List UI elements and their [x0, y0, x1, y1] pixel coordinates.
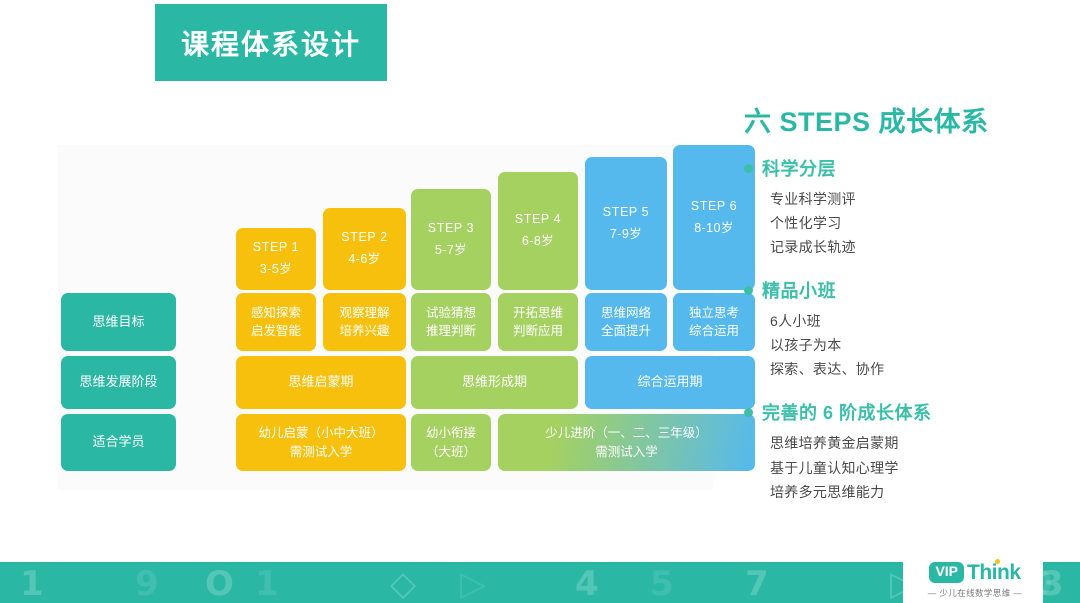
footer-decoration: 7 — [745, 564, 769, 603]
step-age: 8-10岁 — [694, 218, 734, 240]
goal-cell-6: 独立思考综合运用 — [673, 293, 755, 351]
step-label: STEP 4 — [515, 209, 561, 231]
step-bar-2: STEP 24-6岁 — [323, 208, 406, 290]
goal-cell-4: 开拓思维判断应用 — [498, 293, 578, 351]
brand-logo: VIP Think — 少儿在线数学思维 — — [915, 560, 1035, 599]
step-bar-5: STEP 57-9岁 — [585, 157, 667, 290]
cell-text: 感知探索 — [251, 304, 301, 322]
footer-decoration: ▷ — [460, 564, 486, 603]
step-bar-4: STEP 46-8岁 — [498, 172, 578, 290]
bullet-dot-icon — [744, 164, 753, 173]
logo-wordmark-text: Think — [967, 561, 1021, 584]
goal-cell-2: 观察理解培养兴趣 — [323, 293, 406, 351]
section-heading-row: 完善的 6 阶成长体系 — [744, 399, 1070, 425]
section-heading-row: 精品小班 — [744, 277, 1070, 303]
row-header-students: 适合学员 — [61, 414, 176, 471]
cell-text: 全面提升 — [601, 322, 651, 340]
footer-decoration: ◇ — [390, 564, 416, 603]
cell-text: 思维形成期 — [462, 373, 527, 392]
cell-text: 推理判断 — [426, 322, 476, 340]
row-header-stages: 思维发展阶段 — [61, 356, 176, 409]
student-cell-3: 少儿进阶（一、二、三年级）需测试入学 — [498, 414, 755, 471]
cell-text: 观察理解 — [339, 304, 389, 322]
footer-decoration: 9 — [135, 564, 159, 603]
logo-row: VIP Think — [915, 560, 1035, 585]
section-title: 精品小班 — [762, 277, 836, 303]
student-cell-2: 幼小衔接（大班） — [411, 414, 491, 471]
slide-root: 课程体系设计 STEP 13-5岁STEP 24-6岁STEP 35-7岁STE… — [0, 0, 1080, 603]
stage-cell-3: 综合运用期 — [585, 356, 755, 409]
bullet-dot-icon — [744, 286, 753, 295]
diagram-row-stages: 思维发展阶段思维启蒙期思维形成期综合运用期 — [58, 356, 713, 409]
cell-text: 思维网络 — [601, 304, 651, 322]
stage-cell-2: 思维形成期 — [411, 356, 578, 409]
cell-text: 综合运用 — [689, 322, 739, 340]
logo-dot-icon — [995, 559, 1000, 564]
list-item: 记录成长轨迹 — [770, 235, 1070, 259]
list-item: 个性化学习 — [770, 211, 1070, 235]
step-age: 7-9岁 — [610, 224, 642, 246]
step-label: STEP 3 — [428, 218, 474, 240]
step-age: 4-6岁 — [348, 249, 380, 271]
cell-text: 需测试入学 — [290, 443, 353, 461]
diagram-row-goals: 思维目标感知探索启发智能观察理解培养兴趣试验猜想推理判断开拓思维判断应用思维网络… — [58, 293, 713, 351]
list-item: 以孩子为本 — [770, 333, 1070, 357]
footer-decoration: O — [205, 564, 234, 603]
curriculum-diagram: STEP 13-5岁STEP 24-6岁STEP 35-7岁STEP 46-8岁… — [58, 145, 713, 490]
step-bar-3: STEP 35-7岁 — [411, 189, 491, 290]
goal-cell-3: 试验猜想推理判断 — [411, 293, 491, 351]
cell-text: 综合运用期 — [637, 373, 702, 392]
footer-decoration: 5 — [650, 564, 674, 603]
cell-text: 思维启蒙期 — [288, 373, 353, 392]
list-item: 培养多元思维能力 — [770, 480, 1070, 504]
cell-text: 独立思考 — [689, 304, 739, 322]
step-label: STEP 2 — [341, 227, 387, 249]
section-list: 思维培养黄金启蒙期基于儿童认知心理学培养多元思维能力 — [744, 431, 1070, 503]
cell-text: 幼儿启蒙（小中大班） — [258, 424, 383, 442]
bullet-dot-icon — [744, 408, 753, 417]
step-label: STEP 1 — [253, 237, 299, 259]
step-bar-6: STEP 68-10岁 — [673, 145, 755, 290]
step-age: 6-8岁 — [522, 231, 554, 253]
slide-title-box: 课程体系设计 — [155, 4, 387, 81]
right-panel-title: 六 STEPS 成长体系 — [744, 100, 1070, 139]
section-list: 专业科学测评个性化学习记录成长轨迹 — [744, 187, 1070, 259]
feature-section-3: 完善的 6 阶成长体系思维培养黄金启蒙期基于儿童认知心理学培养多元思维能力 — [744, 399, 1070, 503]
page-title: 课程体系设计 — [181, 23, 361, 63]
section-title: 完善的 6 阶成长体系 — [762, 399, 932, 425]
logo-tagline: — 少儿在线数学思维 — — [915, 587, 1035, 599]
cell-text: 思维发展阶段 — [79, 373, 157, 392]
cell-text: 启发智能 — [251, 322, 301, 340]
cell-text: 幼小衔接 — [426, 424, 476, 442]
feature-section-1: 科学分层专业科学测评个性化学习记录成长轨迹 — [744, 155, 1070, 259]
section-heading-row: 科学分层 — [744, 155, 1070, 181]
section-list: 6人小班以孩子为本探索、表达、协作 — [744, 309, 1070, 381]
list-item: 探索、表达、协作 — [770, 357, 1070, 381]
diagram-row-students: 适合学员幼儿启蒙（小中大班）需测试入学幼小衔接（大班）少儿进阶（一、二、三年级）… — [58, 414, 713, 471]
footer-decoration: 1 — [20, 564, 44, 603]
logo-wordmark: Think — [967, 562, 1021, 583]
cell-text: 需测试入学 — [595, 443, 658, 461]
list-item: 专业科学测评 — [770, 187, 1070, 211]
step-label: STEP 6 — [691, 196, 737, 218]
student-cell-1: 幼儿启蒙（小中大班）需测试入学 — [236, 414, 406, 471]
footer-decoration: 1 — [255, 564, 279, 603]
step-age: 5-7岁 — [435, 240, 467, 262]
step-bar-1: STEP 13-5岁 — [236, 228, 316, 290]
step-label: STEP 5 — [603, 202, 649, 224]
cell-text: 适合学员 — [92, 433, 144, 452]
list-item: 6人小班 — [770, 309, 1070, 333]
cell-text: 试验猜想 — [426, 304, 476, 322]
row-header-goals: 思维目标 — [61, 293, 176, 351]
feature-section-2: 精品小班6人小班以孩子为本探索、表达、协作 — [744, 277, 1070, 381]
step-age: 3-5岁 — [260, 259, 292, 281]
right-panel: 六 STEPS 成长体系 科学分层专业科学测评个性化学习记录成长轨迹精品小班6人… — [744, 100, 1070, 522]
list-item: 基于儿童认知心理学 — [770, 456, 1070, 480]
stage-cell-1: 思维启蒙期 — [236, 356, 406, 409]
cell-text: 思维目标 — [92, 313, 144, 332]
cell-text: （大班） — [426, 443, 476, 461]
goal-cell-5: 思维网络全面提升 — [585, 293, 667, 351]
cell-text: 开拓思维 — [513, 304, 563, 322]
steps-bar-chart: STEP 13-5岁STEP 24-6岁STEP 35-7岁STEP 46-8岁… — [58, 145, 713, 290]
right-panel-sections: 科学分层专业科学测评个性化学习记录成长轨迹精品小班6人小班以孩子为本探索、表达、… — [744, 155, 1070, 504]
vip-badge: VIP — [929, 562, 964, 583]
cell-text: 判断应用 — [513, 322, 563, 340]
cell-text: 少儿进阶（一、二、三年级） — [545, 424, 708, 442]
section-title: 科学分层 — [762, 155, 836, 181]
goal-cell-1: 感知探索启发智能 — [236, 293, 316, 351]
cell-text: 培养兴趣 — [339, 322, 389, 340]
footer-decoration: 4 — [575, 564, 599, 603]
list-item: 思维培养黄金启蒙期 — [770, 431, 1070, 455]
